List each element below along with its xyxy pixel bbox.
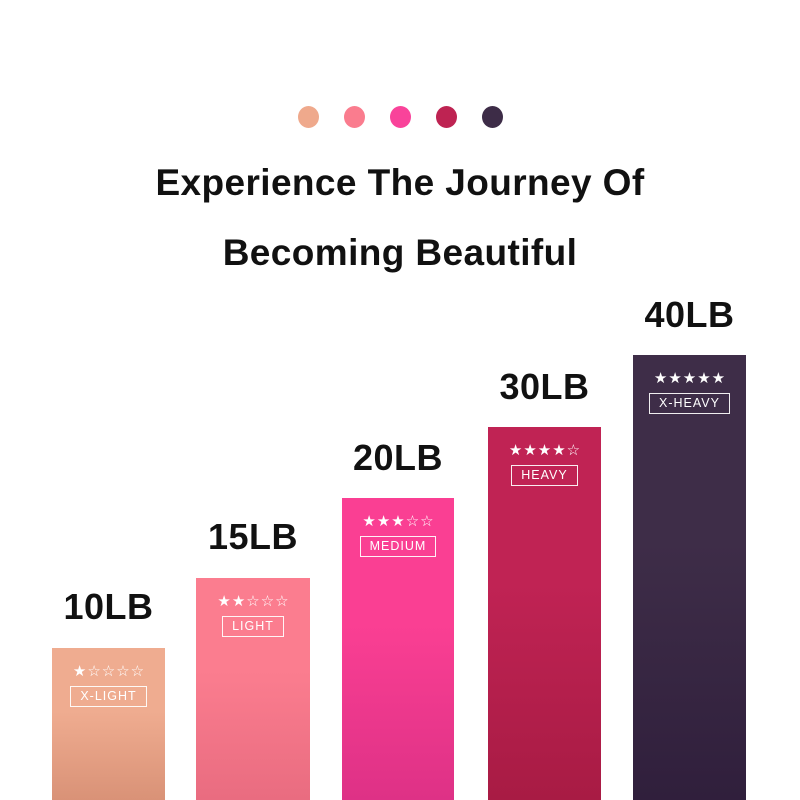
star-filled-icon: ★	[509, 443, 522, 458]
star-empty-icon: ☆	[102, 664, 115, 679]
star-filled-icon: ★	[217, 594, 230, 609]
bar-content: ★★☆☆☆LIGHT	[196, 578, 310, 637]
star-empty-icon: ☆	[420, 514, 433, 529]
star-filled-icon: ★	[697, 371, 710, 386]
bar-weight-label: 20LB	[353, 440, 443, 476]
infographic-root: Experience The Journey Of Becoming Beaut…	[0, 0, 800, 800]
bar-content: ★☆☆☆☆X-LIGHT	[52, 648, 165, 707]
bar-30lb[interactable]: ★★★★☆HEAVY	[488, 427, 601, 800]
star-rating: ★★★★☆	[509, 443, 580, 458]
bar-content: ★★★☆☆MEDIUM	[342, 498, 454, 557]
star-rating: ★★★★★	[654, 371, 725, 386]
star-filled-icon: ★	[683, 371, 696, 386]
bar-weight-label: 10LB	[63, 589, 153, 625]
star-empty-icon: ☆	[87, 664, 100, 679]
bar-column-20lb: 20LB★★★☆☆MEDIUM	[342, 440, 454, 800]
star-filled-icon: ★	[552, 443, 565, 458]
bar-content: ★★★★★X-HEAVY	[633, 355, 746, 414]
star-filled-icon: ★	[523, 443, 536, 458]
bar-content: ★★★★☆HEAVY	[488, 427, 601, 486]
bar-weight-label: 40LB	[644, 297, 734, 333]
star-filled-icon: ★	[232, 594, 245, 609]
star-empty-icon: ☆	[131, 664, 144, 679]
bar-10lb[interactable]: ★☆☆☆☆X-LIGHT	[52, 648, 165, 800]
star-filled-icon: ★	[362, 514, 375, 529]
star-filled-icon: ★	[668, 371, 681, 386]
resistance-level-badge: LIGHT	[222, 616, 284, 637]
bar-20lb[interactable]: ★★★☆☆MEDIUM	[342, 498, 454, 800]
star-empty-icon: ☆	[246, 594, 259, 609]
star-empty-icon: ☆	[261, 594, 274, 609]
star-filled-icon: ★	[73, 664, 86, 679]
resistance-level-badge: X-LIGHT	[70, 686, 146, 707]
bar-column-30lb: 30LB★★★★☆HEAVY	[488, 369, 601, 800]
star-filled-icon: ★	[391, 514, 404, 529]
star-filled-icon: ★	[712, 371, 725, 386]
bar-column-15lb: 15LB★★☆☆☆LIGHT	[196, 519, 310, 800]
bar-weight-label: 15LB	[208, 519, 298, 555]
star-rating: ★★★☆☆	[362, 514, 433, 529]
star-rating: ★★☆☆☆	[217, 594, 288, 609]
star-filled-icon: ★	[538, 443, 551, 458]
star-empty-icon: ☆	[116, 664, 129, 679]
bar-column-10lb: 10LB★☆☆☆☆X-LIGHT	[52, 589, 165, 800]
bar-column-40lb: 40LB★★★★★X-HEAVY	[633, 297, 746, 800]
star-rating: ★☆☆☆☆	[73, 664, 144, 679]
resistance-level-badge: MEDIUM	[360, 536, 437, 557]
star-filled-icon: ★	[654, 371, 667, 386]
star-empty-icon: ☆	[567, 443, 580, 458]
star-filled-icon: ★	[377, 514, 390, 529]
resistance-level-badge: HEAVY	[511, 465, 577, 486]
bar-weight-label: 30LB	[499, 369, 589, 405]
resistance-level-badge: X-HEAVY	[649, 393, 730, 414]
star-empty-icon: ☆	[406, 514, 419, 529]
star-empty-icon: ☆	[275, 594, 288, 609]
resistance-bar-chart: 10LB★☆☆☆☆X-LIGHT15LB★★☆☆☆LIGHT20LB★★★☆☆M…	[0, 0, 800, 800]
bar-15lb[interactable]: ★★☆☆☆LIGHT	[196, 578, 310, 800]
bar-40lb[interactable]: ★★★★★X-HEAVY	[633, 355, 746, 800]
